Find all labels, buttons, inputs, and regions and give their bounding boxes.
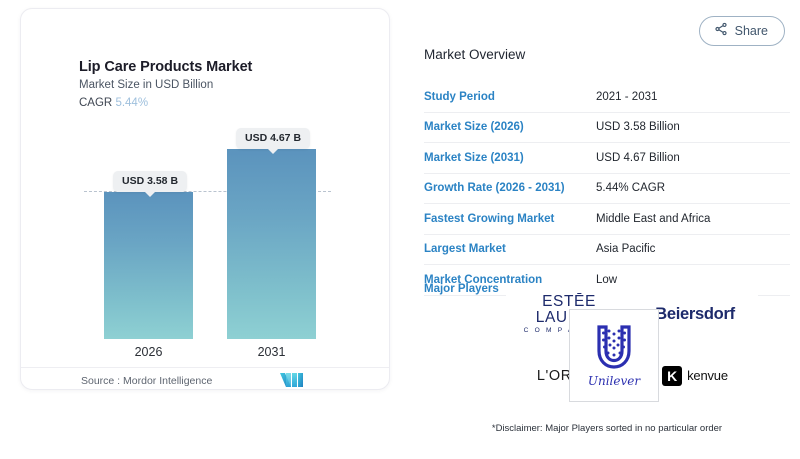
source-text: Source : Mordor Intelligence [81,375,212,387]
row-label: Market Size (2031) [424,152,596,164]
kenvue-mark: K [662,366,682,386]
row-value: 2021 - 2031 [596,91,657,103]
row-label: Fastest Growing Market [424,213,596,225]
row-value: 5.44% CAGR [596,182,665,194]
bar-label-2031: USD 4.67 B [236,128,310,149]
row-value: USD 3.58 Billion [596,121,680,133]
row-value: Asia Pacific [596,243,655,255]
beiersdorf-wordmark: Beiersdorf [655,305,735,324]
x-axis-label-2031: 2031 [227,345,316,359]
table-row: Study Period 2021 - 2031 [424,82,790,113]
bar-label-2026: USD 3.58 B [113,171,187,192]
bar-2031[interactable] [227,149,316,339]
row-value: Middle East and Africa [596,213,710,225]
table-row: Growth Rate (2026 - 2031) 5.44% CAGR [424,174,790,205]
estee-line-1: ESTĒE [524,294,615,310]
chart-card: Lip Care Products Market Market Size in … [20,8,390,390]
row-label: Study Period [424,91,596,103]
row-value: USD 4.67 Billion [596,152,680,164]
mordor-intelligence-logo [279,370,305,395]
overview-table: Study Period 2021 - 2031 Market Size (20… [424,82,790,296]
chart-footer: Source : Mordor Intelligence [21,367,389,399]
table-row: Market Size (2031) USD 4.67 Billion [424,143,790,174]
row-label: Growth Rate (2026 - 2031) [424,182,596,194]
major-players-logo-grid: ESTĒE LAUDER C O M P A N I E S Beiersdor… [506,284,758,406]
table-row: Largest Market Asia Pacific [424,235,790,266]
kenvue-wordmark: kenvue [687,368,728,383]
x-axis-label-2026: 2026 [104,345,193,359]
market-summary-page: Share Lip Care Products Market Market Si… [0,0,800,459]
unilever-u-mark [593,323,635,371]
logo-unilever: Unilever [569,309,659,402]
overview-title: Market Overview [424,47,525,62]
disclaimer-text: *Disclaimer: Major Players sorted in no … [424,423,790,434]
bar-chart-plot: USD 3.58 B USD 4.67 B 2026 2031 [21,9,391,391]
unilever-wordmark: Unilever [588,374,640,388]
major-players-label: Major Players [424,283,499,295]
table-row: Fastest Growing Market Middle East and A… [424,204,790,235]
market-overview-panel: Market Overview Study Period 2021 - 2031… [424,0,800,459]
row-label: Largest Market [424,243,596,255]
row-label: Market Size (2026) [424,121,596,133]
table-row: Market Size (2026) USD 3.58 Billion [424,113,790,144]
bar-2026[interactable] [104,192,193,339]
